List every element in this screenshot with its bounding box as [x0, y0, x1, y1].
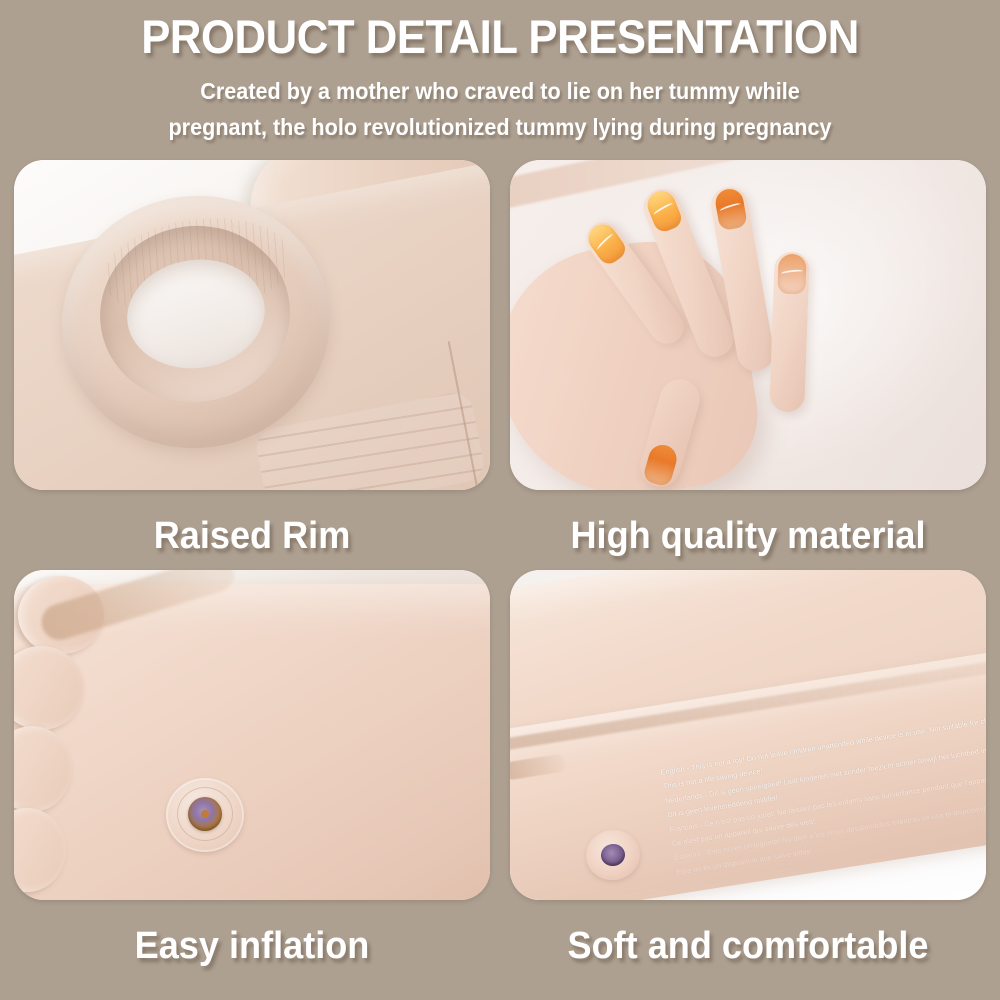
feature-cell-soft-and-comfortable: English - This is not a toy! Do not leav…	[510, 570, 986, 968]
product-photo-raised-rim[interactable]	[14, 160, 490, 490]
finger	[769, 251, 810, 412]
nail-icon	[777, 254, 806, 295]
feature-grid: Raised Rim	[14, 160, 986, 986]
soft-bolster-illustration: English - This is not a toy! Do not leav…	[510, 570, 986, 900]
nail-icon	[713, 187, 748, 231]
caption-easy-inflation: Easy inflation	[26, 924, 478, 968]
feature-cell-easy-inflation: Easy inflation	[14, 570, 490, 968]
header: PRODUCT DETAIL PRESENTATION Created by a…	[0, 0, 1000, 144]
product-photo-easy-inflation[interactable]	[14, 570, 490, 900]
feature-cell-high-quality-material: High quality material	[510, 160, 986, 558]
raised-rim-illustration	[14, 160, 490, 490]
feature-cell-raised-rim: Raised Rim	[14, 160, 490, 558]
caption-raised-rim: Raised Rim	[26, 514, 478, 558]
caption-soft-and-comfortable: Soft and comfortable	[522, 924, 974, 968]
product-photo-high-quality-material[interactable]	[510, 160, 986, 490]
caption-high-quality-material: High quality material	[522, 514, 974, 558]
valve-center-dot	[201, 810, 209, 818]
page-title: PRODUCT DETAIL PRESENTATION	[35, 13, 965, 60]
hand-on-material-illustration	[510, 160, 986, 490]
subtitle-line-1: Created by a mother who craved to lie on…	[30, 74, 970, 108]
product-photo-soft-and-comfortable[interactable]: English - This is not a toy! Do not leav…	[510, 570, 986, 900]
subtitle-line-2: pregnant, the holo revolutionized tummy …	[30, 110, 970, 144]
inflation-valve-illustration	[14, 570, 490, 900]
nail-icon	[642, 442, 680, 488]
product-detail-page: PRODUCT DETAIL PRESENTATION Created by a…	[0, 0, 1000, 1000]
